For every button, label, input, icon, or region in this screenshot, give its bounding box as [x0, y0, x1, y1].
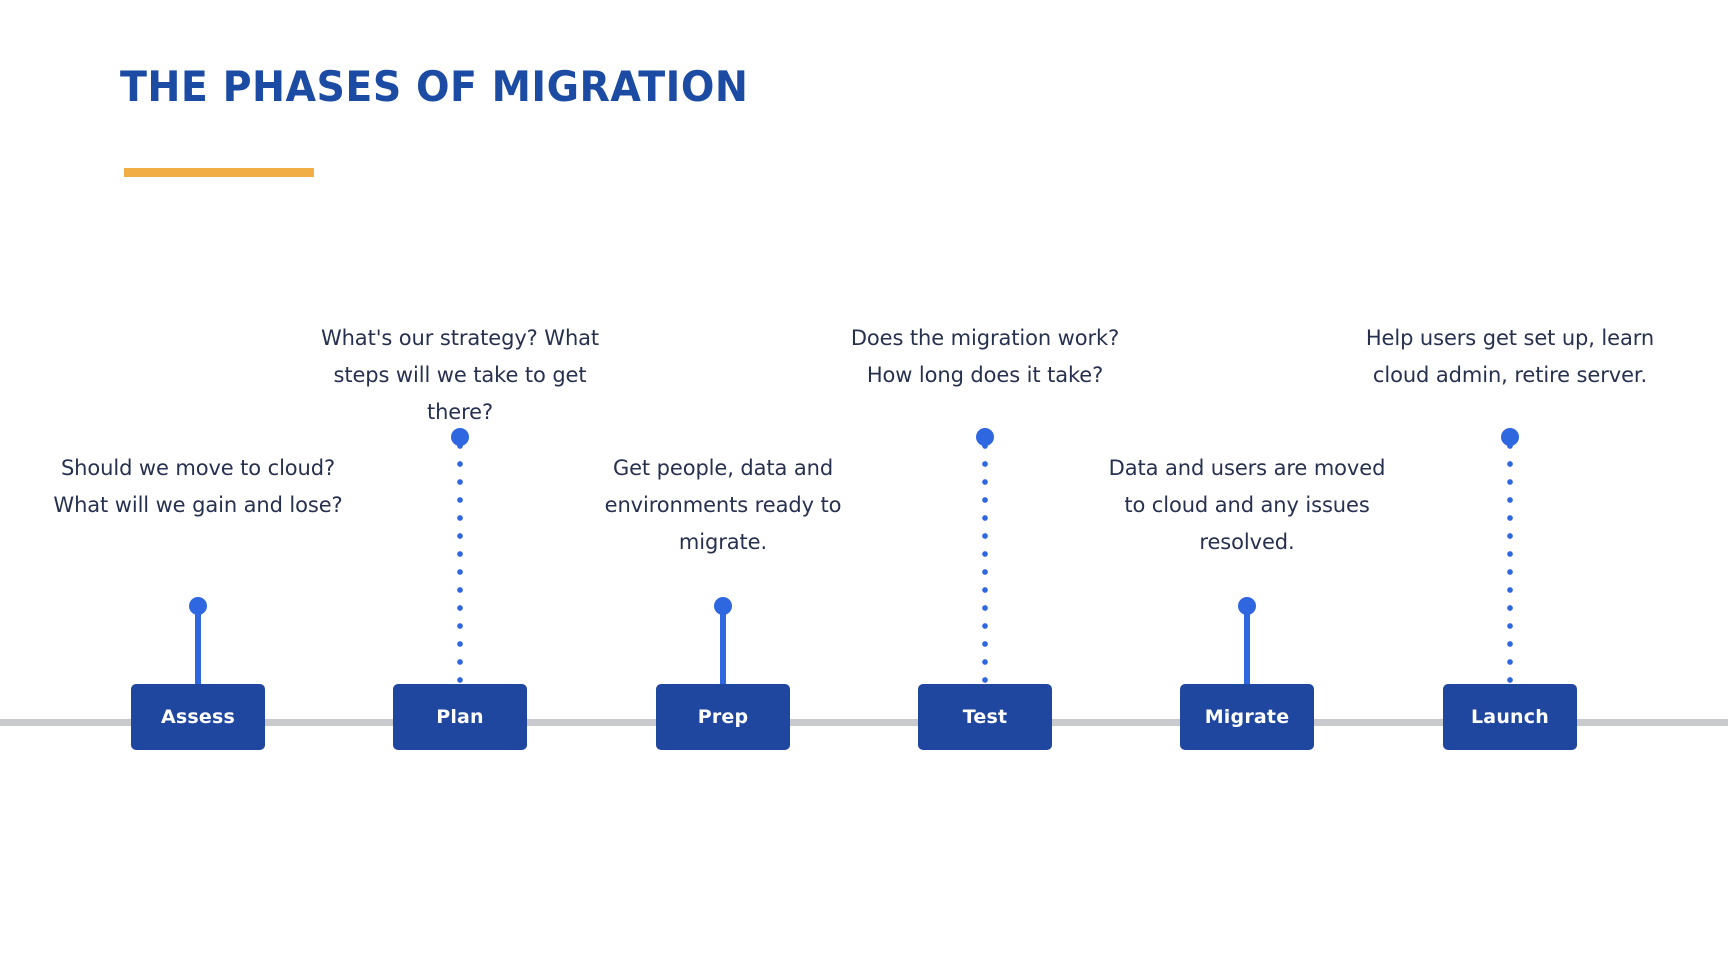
phase-caption: What's our strategy? What steps will we … — [310, 320, 610, 431]
connector-dot-icon — [1238, 597, 1256, 615]
connector-stem — [457, 437, 464, 692]
phase-caption: Data and users are moved to cloud and an… — [1097, 450, 1397, 561]
phase-caption: Get people, data and environments ready … — [573, 450, 873, 561]
connector-dot-icon — [1501, 428, 1519, 446]
phase-box-plan[interactable]: Plan — [393, 684, 527, 750]
connector-dot-icon — [976, 428, 994, 446]
phase-box-prep[interactable]: Prep — [656, 684, 790, 750]
connector-stem — [195, 606, 201, 692]
phase-caption: Does the migration work? How long does i… — [835, 320, 1135, 394]
connector-stem — [1507, 437, 1514, 692]
phase-box-assess[interactable]: Assess — [131, 684, 265, 750]
phase-caption: Should we move to cloud? What will we ga… — [48, 450, 348, 524]
connector-dot-icon — [189, 597, 207, 615]
phase-caption: Help users get set up, learn cloud admin… — [1360, 320, 1660, 394]
slide-canvas: THE PHASES OF MIGRATION Should we move t… — [0, 0, 1728, 972]
connector-dot-icon — [714, 597, 732, 615]
connector-stem — [720, 606, 726, 692]
phase-box-migrate[interactable]: Migrate — [1180, 684, 1314, 750]
title-accent-rule — [124, 168, 314, 177]
connector-dot-icon — [451, 428, 469, 446]
connector-stem — [982, 437, 989, 692]
connector-stem — [1244, 606, 1250, 692]
phase-box-test[interactable]: Test — [918, 684, 1052, 750]
page-title: THE PHASES OF MIGRATION — [120, 62, 748, 111]
phase-box-launch[interactable]: Launch — [1443, 684, 1577, 750]
